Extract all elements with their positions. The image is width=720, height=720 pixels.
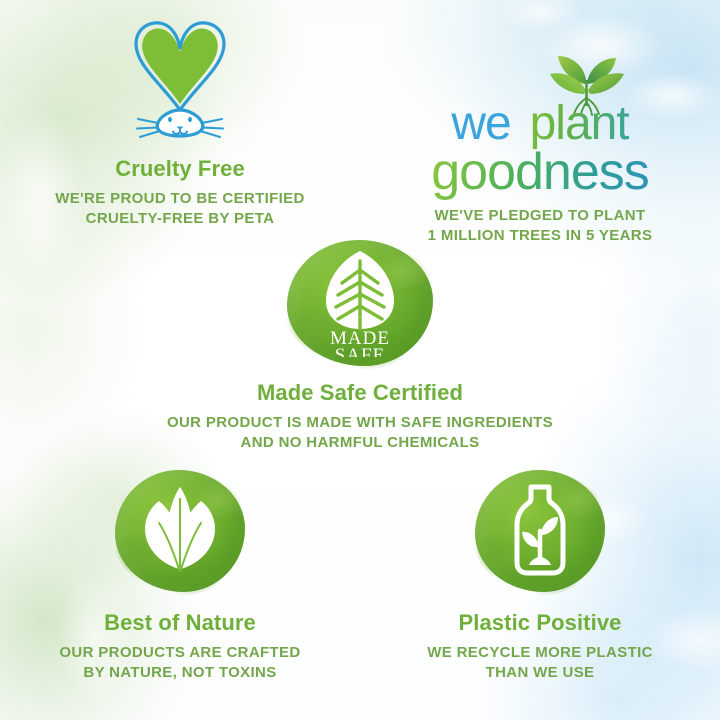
- block-made-safe: MADE SAFE Made Safe Certified OUR PRODUC…: [120, 240, 600, 453]
- bottle-sprout-icon: [500, 483, 580, 579]
- block-description: WE RECYCLE MORE PLASTIC THAN WE USE: [360, 643, 720, 683]
- three-leaves-icon: [137, 485, 223, 577]
- eco-claims-infographic: Cruelty Free WE'RE PROUD TO BE CERTIFIED…: [0, 0, 720, 720]
- block-title: Best of Nature: [0, 610, 360, 636]
- block-best-of-nature: Best of Nature OUR PRODUCTS ARE CRAFTED …: [0, 470, 360, 683]
- peta-bunny-heart-icon: [0, 18, 360, 140]
- best-of-nature-badge: [115, 470, 245, 592]
- block-title: Cruelty Free: [0, 156, 360, 182]
- block-plastic-positive: Plastic Positive WE RECYCLE MORE PLASTIC…: [360, 470, 720, 683]
- made-safe-badge: MADE SAFE: [287, 240, 433, 366]
- badge-text-safe: SAFE: [335, 345, 385, 357]
- made-safe-leaf-icon: MADE SAFE: [300, 249, 420, 357]
- block-title: Made Safe Certified: [120, 380, 600, 406]
- block-description: OUR PRODUCT IS MADE WITH SAFE INGREDIENT…: [120, 413, 600, 453]
- we-plant-goodness-logo: we plant goodness: [360, 50, 720, 170]
- logo-word-goodness: goodness: [431, 143, 649, 201]
- block-cruelty-free: Cruelty Free WE'RE PROUD TO BE CERTIFIED…: [0, 18, 360, 229]
- block-description: WE'RE PROUD TO BE CERTIFIED CRUELTY-FREE…: [0, 189, 360, 229]
- plastic-positive-badge: [475, 470, 605, 592]
- block-title: Plastic Positive: [360, 610, 720, 636]
- block-description: OUR PRODUCTS ARE CRAFTED BY NATURE, NOT …: [0, 643, 360, 683]
- block-we-plant-goodness: we plant goodness WE'VE PLEDGED TO PLANT…: [360, 50, 720, 246]
